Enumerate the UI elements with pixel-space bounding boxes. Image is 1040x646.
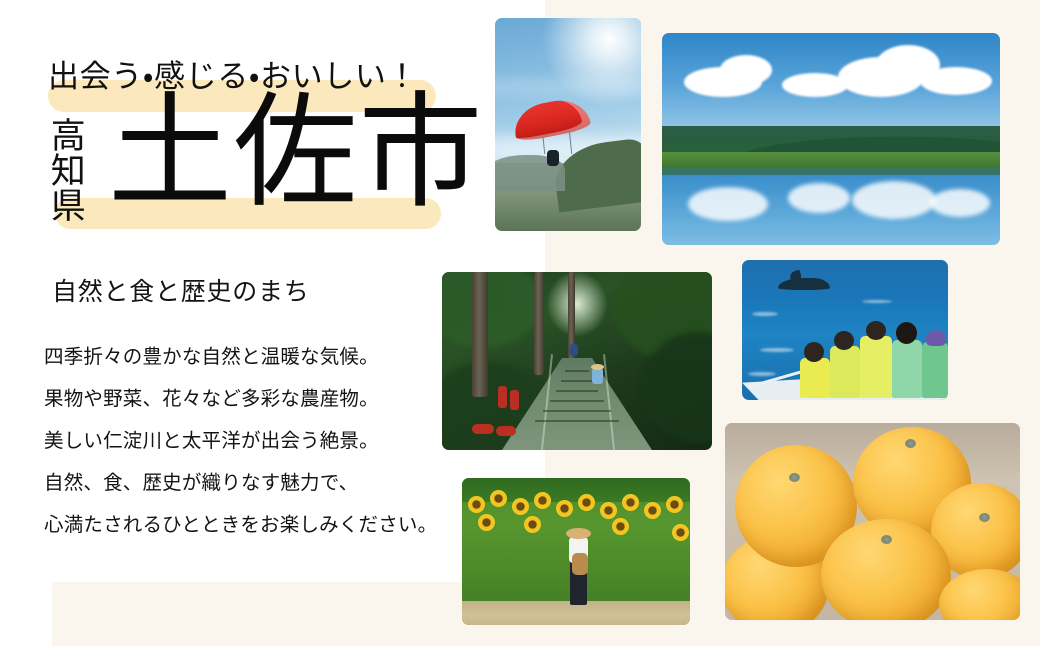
bridge-rung bbox=[556, 390, 598, 392]
water-glint bbox=[862, 300, 892, 303]
river-photo bbox=[662, 33, 1000, 245]
sunflower bbox=[512, 498, 529, 515]
fruit-navel bbox=[905, 439, 916, 448]
sunflower bbox=[666, 496, 683, 513]
red-marker bbox=[498, 386, 507, 408]
cloud-reflection bbox=[852, 181, 936, 219]
sunflower bbox=[672, 524, 689, 541]
sunflower bbox=[490, 490, 507, 507]
poster-canvas: 出会う・感じる・おいしい！ 高知県 土佐市 自然と食と歴史のまち 四季折々の豊か… bbox=[0, 0, 1040, 646]
paraglider-photo bbox=[495, 18, 641, 231]
body-line: 四季折々の豊かな自然と温暖な気候。 bbox=[44, 337, 444, 379]
passenger-head bbox=[804, 342, 824, 362]
cloud-band bbox=[495, 80, 641, 94]
passenger-head bbox=[896, 322, 917, 344]
sunflower bbox=[534, 492, 551, 509]
passenger bbox=[892, 340, 922, 398]
passenger bbox=[830, 346, 860, 398]
sunflower bbox=[578, 494, 595, 511]
sunflower bbox=[622, 494, 639, 511]
sunflower bbox=[612, 518, 629, 535]
passenger bbox=[922, 342, 948, 398]
cloud bbox=[920, 67, 992, 95]
red-marker bbox=[510, 390, 519, 410]
visitor-hat bbox=[566, 528, 591, 539]
sunflower bbox=[644, 502, 661, 519]
headline-block: 出会う・感じる・おいしい！ 高知県 土佐市 bbox=[0, 0, 480, 260]
whale bbox=[778, 278, 830, 290]
sunflower bbox=[600, 502, 617, 519]
bridge-rung bbox=[543, 410, 611, 412]
sunflower-field-photo bbox=[462, 478, 690, 625]
hiker-distant bbox=[570, 344, 578, 356]
water-glint bbox=[760, 348, 794, 352]
cloud-reflection bbox=[688, 187, 768, 221]
sunflower bbox=[556, 500, 573, 517]
cloud bbox=[720, 55, 772, 85]
subheading-text: 自然と食と歴史のまち bbox=[52, 278, 310, 308]
body-line: 心満たされるひとときをお楽しみください。 bbox=[44, 505, 444, 547]
body-line: 美しい仁淀川と太平洋が出会う絶景。 bbox=[44, 421, 444, 463]
passenger-head bbox=[866, 321, 886, 340]
sunflower bbox=[468, 496, 485, 513]
cloud-reflection bbox=[788, 183, 850, 213]
passenger bbox=[800, 358, 830, 398]
forest-bridge-photo bbox=[442, 272, 712, 450]
hiker bbox=[592, 368, 603, 384]
sunflower bbox=[524, 516, 541, 533]
hiker-hat bbox=[591, 364, 604, 370]
passenger-head bbox=[834, 331, 854, 350]
fruit-navel bbox=[789, 473, 800, 482]
fruit-navel bbox=[881, 535, 892, 544]
sunflower bbox=[478, 514, 495, 531]
bridge-rung bbox=[565, 370, 589, 372]
body-line: 果物や野菜、花々など多彩な農産物。 bbox=[44, 379, 444, 421]
bridge-rung bbox=[561, 380, 593, 382]
citrus-fruit-photo bbox=[725, 423, 1020, 620]
tree-line bbox=[662, 152, 1000, 167]
bridge-rung bbox=[535, 420, 619, 422]
tree-line-reflection bbox=[662, 167, 1000, 175]
red-marker bbox=[472, 424, 494, 434]
water-glint bbox=[752, 312, 778, 316]
whale-watching-photo bbox=[742, 260, 948, 400]
tree-trunk bbox=[534, 272, 544, 375]
path-ground bbox=[462, 601, 690, 625]
water-glint bbox=[748, 372, 776, 376]
passenger bbox=[860, 336, 892, 398]
passenger-hat bbox=[926, 330, 946, 346]
fruit-navel bbox=[979, 513, 990, 522]
red-marker bbox=[496, 426, 516, 436]
visitor-backpack bbox=[572, 553, 588, 575]
body-copy: 四季折々の豊かな自然と温暖な気候。 果物や野菜、花々など多彩な農産物。 美しい仁… bbox=[44, 337, 444, 547]
city-title: 土佐市 bbox=[108, 92, 484, 216]
body-line: 自然、食、歴史が織りなす魅力で、 bbox=[44, 463, 444, 505]
cloud-reflection bbox=[930, 189, 990, 217]
paraglider-pilot bbox=[547, 150, 559, 166]
prefecture-label: 高知県 bbox=[47, 117, 83, 227]
tree-trunk bbox=[472, 272, 488, 397]
bridge-rung bbox=[550, 400, 604, 402]
